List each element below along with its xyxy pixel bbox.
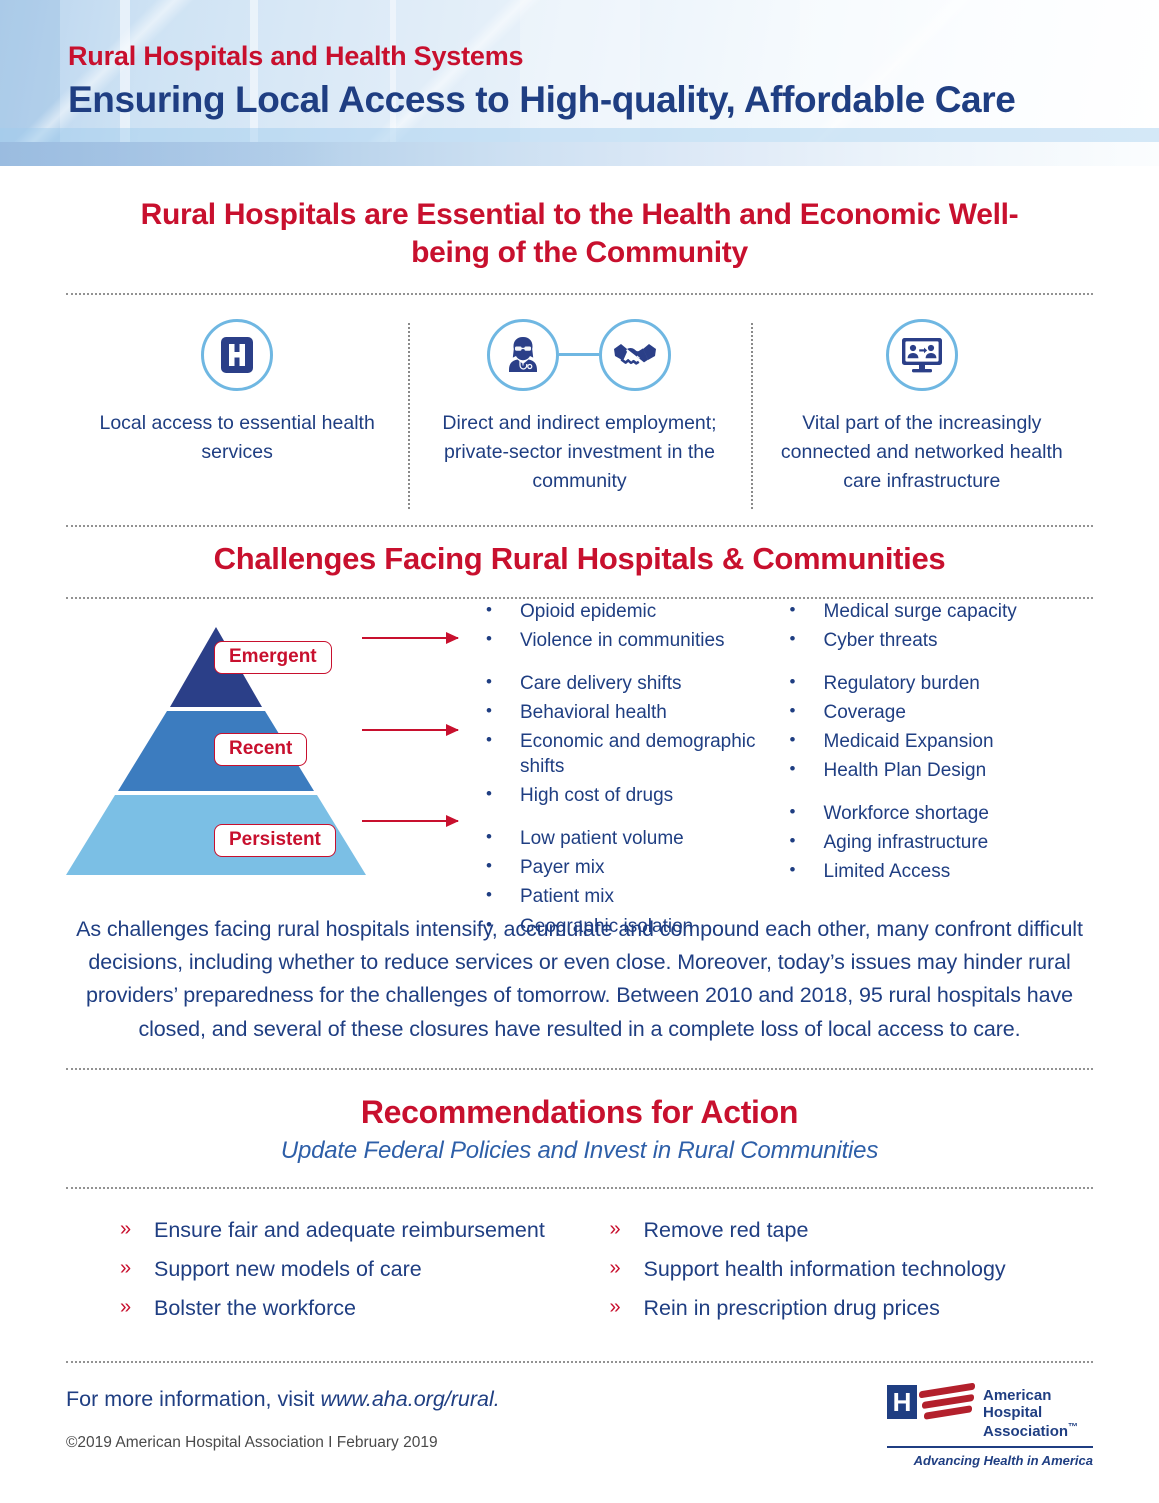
handshake-glyph bbox=[612, 339, 658, 371]
challenge-item: •Payer mix bbox=[486, 855, 790, 880]
recommendation-label: Support new models of care bbox=[154, 1254, 422, 1285]
challenge-item: •Care delivery shifts bbox=[486, 671, 790, 696]
recommendation-item: »Ensure fair and adequate reimbursement bbox=[120, 1215, 580, 1246]
challenge-item: •Low patient volume bbox=[486, 826, 790, 851]
tier-label-emergent: Emergent bbox=[214, 641, 332, 674]
recommendation-label: Remove red tape bbox=[644, 1215, 809, 1246]
connector-line bbox=[559, 353, 599, 356]
icon-pair bbox=[487, 319, 671, 391]
handshake-icon bbox=[599, 319, 671, 391]
trademark-icon: ™ bbox=[1068, 1422, 1078, 1433]
aha-flag-icon bbox=[919, 1385, 977, 1425]
bullet-icon: • bbox=[486, 855, 520, 877]
recommendation-item: »Remove red tape bbox=[610, 1215, 1094, 1246]
challenge-pyramid: Emergent Recent Persistent bbox=[66, 619, 366, 899]
challenge-label: Patient mix bbox=[520, 884, 614, 909]
guillemet-icon: » bbox=[610, 1254, 644, 1283]
challenge-label: Low patient volume bbox=[520, 826, 684, 851]
bullet-icon: • bbox=[486, 826, 520, 848]
challenge-label: Cyber threats bbox=[824, 628, 938, 653]
challenge-item: •Medicaid Expansion bbox=[790, 729, 1094, 754]
hospital-h-glyph bbox=[220, 336, 254, 374]
doctor-icon bbox=[487, 319, 559, 391]
aha-hospital-h-icon: H bbox=[887, 1385, 917, 1419]
pillar-infrastructure: Vital part of the increasingly connected… bbox=[751, 319, 1093, 515]
bullet-icon: • bbox=[486, 729, 520, 751]
aha-name-line1: American Hospital bbox=[983, 1387, 1093, 1422]
tier-label-persistent: Persistent bbox=[214, 824, 336, 857]
header-stripe bbox=[0, 142, 1159, 166]
challenge-item: •Aging infrastructure bbox=[790, 830, 1094, 855]
recommendation-column-right: »Remove red tape »Support health informa… bbox=[580, 1215, 1094, 1333]
guillemet-icon: » bbox=[120, 1215, 154, 1244]
page-footer: For more information, visit www.aha.org/… bbox=[66, 1363, 1093, 1503]
header-stripe bbox=[0, 128, 1159, 142]
challenge-group-emergent: •Opioid epidemic •Violence in communitie… bbox=[486, 599, 790, 653]
bullet-icon: • bbox=[790, 599, 824, 621]
challenge-label: Payer mix bbox=[520, 855, 604, 880]
page-title: Ensuring Local Access to High-quality, A… bbox=[68, 77, 1015, 122]
challenge-column-right: •Medical surge capacity •Cyber threats •… bbox=[790, 599, 1094, 943]
challenge-item: •Medical surge capacity bbox=[790, 599, 1094, 624]
recommendations-section-head: Recommendations for Action Update Federa… bbox=[0, 1070, 1159, 1165]
header-text-block: Rural Hospitals and Health Systems Ensur… bbox=[68, 42, 1015, 122]
divider bbox=[66, 525, 1093, 527]
bullet-icon: • bbox=[790, 801, 824, 823]
arrow-recent bbox=[362, 729, 458, 731]
page-header: Rural Hospitals and Health Systems Ensur… bbox=[0, 0, 1159, 166]
recommendation-label: Support health information technology bbox=[644, 1254, 1006, 1285]
bullet-icon: • bbox=[790, 628, 824, 650]
recommendation-item: »Support health information technology bbox=[610, 1254, 1094, 1285]
challenge-group-emergent: •Medical surge capacity •Cyber threats bbox=[790, 599, 1094, 653]
challenge-label: Behavioral health bbox=[520, 700, 667, 725]
tier-label-recent: Recent bbox=[214, 733, 307, 766]
challenge-item: •Cyber threats bbox=[790, 628, 1094, 653]
divider bbox=[66, 1187, 1093, 1189]
challenges-title: Challenges Facing Rural Hospitals & Comm… bbox=[0, 541, 1159, 577]
aha-rural-url[interactable]: www.aha.org/rural. bbox=[320, 1387, 499, 1411]
challenge-group-persistent: •Workforce shortage •Aging infrastructur… bbox=[790, 801, 1094, 884]
pillar-caption: Vital part of the increasingly connected… bbox=[761, 409, 1083, 497]
challenge-item: •Economic and demographic shifts bbox=[486, 729, 790, 779]
challenge-label: Geographic isolation bbox=[520, 914, 693, 939]
essential-title: Rural Hospitals are Essential to the Hea… bbox=[130, 196, 1029, 273]
recommendation-column-left: »Ensure fair and adequate reimbursement … bbox=[66, 1215, 580, 1333]
recommendation-label: Ensure fair and adequate reimbursement bbox=[154, 1215, 545, 1246]
challenge-label: Limited Access bbox=[824, 859, 951, 884]
challenge-item: •Patient mix bbox=[486, 884, 790, 909]
challenge-label: Economic and demographic shifts bbox=[520, 729, 790, 779]
header-kicker: Rural Hospitals and Health Systems bbox=[68, 42, 1015, 72]
bullet-icon: • bbox=[790, 758, 824, 780]
challenge-item: •Coverage bbox=[790, 700, 1094, 725]
arrow-persistent bbox=[362, 820, 458, 822]
challenge-column-left: •Opioid epidemic •Violence in communitie… bbox=[486, 599, 790, 943]
recommendation-item: »Support new models of care bbox=[120, 1254, 580, 1285]
bullet-icon: • bbox=[486, 671, 520, 693]
aha-name-block: American Hospital Association™ bbox=[983, 1385, 1093, 1441]
divider bbox=[66, 293, 1093, 295]
challenge-item: •Regulatory burden bbox=[790, 671, 1094, 696]
challenges-section-head: Challenges Facing Rural Hospitals & Comm… bbox=[0, 527, 1159, 577]
challenge-label: Aging infrastructure bbox=[824, 830, 989, 855]
challenge-label: Violence in communities bbox=[520, 628, 725, 653]
more-info-prefix: For more information, visit bbox=[66, 1387, 320, 1411]
guillemet-icon: » bbox=[120, 1254, 154, 1283]
challenge-label: Regulatory burden bbox=[824, 671, 980, 696]
challenge-item: •Violence in communities bbox=[486, 628, 790, 653]
bullet-icon: • bbox=[486, 599, 520, 621]
challenge-group-persistent: •Low patient volume •Payer mix •Patient … bbox=[486, 826, 790, 938]
bullet-icon: • bbox=[486, 700, 520, 722]
aha-logo-top: H American Hospital Association™ bbox=[887, 1385, 1093, 1441]
pillars-row: Local access to essential health service… bbox=[66, 295, 1093, 515]
bullet-icon: • bbox=[790, 671, 824, 693]
challenge-label: Coverage bbox=[824, 700, 906, 725]
bullet-icon: • bbox=[790, 830, 824, 852]
challenge-item: •Workforce shortage bbox=[790, 801, 1094, 826]
doctor-glyph bbox=[503, 334, 543, 376]
recommendation-item: »Rein in prescription drug prices bbox=[610, 1293, 1094, 1324]
pillar-caption: Direct and indirect employment; private-… bbox=[418, 409, 740, 497]
challenge-item: •Opioid epidemic bbox=[486, 599, 790, 624]
recommendation-label: Rein in prescription drug prices bbox=[644, 1293, 940, 1324]
challenge-label: Opioid epidemic bbox=[520, 599, 656, 624]
bullet-icon: • bbox=[486, 783, 520, 805]
bullet-icon: • bbox=[486, 628, 520, 650]
telehealth-glyph bbox=[900, 336, 944, 374]
challenge-label: Health Plan Design bbox=[824, 758, 987, 783]
divider bbox=[66, 1068, 1093, 1070]
infographic-page: Rural Hospitals and Health Systems Ensur… bbox=[0, 0, 1159, 1500]
recommendations-title: Recommendations for Action bbox=[0, 1094, 1159, 1131]
challenge-label: Care delivery shifts bbox=[520, 671, 682, 696]
bullet-icon: • bbox=[790, 700, 824, 722]
guillemet-icon: » bbox=[120, 1293, 154, 1322]
recommendation-label: Bolster the workforce bbox=[154, 1293, 356, 1324]
bullet-icon: • bbox=[790, 729, 824, 751]
pillar-caption: Local access to essential health service… bbox=[76, 409, 398, 468]
challenge-label: Medical surge capacity bbox=[824, 599, 1017, 624]
bullet-icon: • bbox=[486, 884, 520, 906]
recommendations-subtitle: Update Federal Policies and Invest in Ru… bbox=[0, 1137, 1159, 1165]
recommendation-item: »Bolster the workforce bbox=[120, 1293, 580, 1324]
challenge-label: Workforce shortage bbox=[824, 801, 989, 826]
pillar-employment: Direct and indirect employment; private-… bbox=[408, 319, 750, 515]
guillemet-icon: » bbox=[610, 1215, 644, 1244]
recommendations-columns: »Ensure fair and adequate reimbursement … bbox=[66, 1215, 1093, 1333]
aha-name-line2-text: Association bbox=[983, 1423, 1068, 1440]
challenge-group-recent: •Regulatory burden •Coverage •Medicaid E… bbox=[790, 671, 1094, 783]
arrow-emergent bbox=[362, 637, 458, 639]
pillar-local-access: Local access to essential health service… bbox=[66, 319, 408, 515]
bullet-icon: • bbox=[486, 914, 520, 936]
telehealth-monitor-icon bbox=[886, 319, 958, 391]
challenge-item: •High cost of drugs bbox=[486, 783, 790, 808]
aha-logo: H American Hospital Association™ Advanci… bbox=[887, 1385, 1093, 1468]
essential-section-head: Rural Hospitals are Essential to the Hea… bbox=[0, 166, 1159, 273]
challenge-item: •Limited Access bbox=[790, 859, 1094, 884]
challenge-label: High cost of drugs bbox=[520, 783, 673, 808]
challenge-item: •Behavioral health bbox=[486, 700, 790, 725]
challenge-item: •Geographic isolation bbox=[486, 914, 790, 939]
aha-tagline: Advancing Health in America bbox=[887, 1453, 1093, 1468]
guillemet-icon: » bbox=[610, 1293, 644, 1322]
hospital-h-icon bbox=[201, 319, 273, 391]
aha-name-line2: Association™ bbox=[983, 1422, 1093, 1441]
challenge-label: Medicaid Expansion bbox=[824, 729, 994, 754]
bullet-icon: • bbox=[790, 859, 824, 881]
challenge-group-recent: •Care delivery shifts •Behavioral health… bbox=[486, 671, 790, 808]
challenge-columns: •Opioid epidemic •Violence in communitie… bbox=[486, 599, 1093, 943]
challenge-item: •Health Plan Design bbox=[790, 758, 1094, 783]
challenges-area: Emergent Recent Persistent •Opioid epide… bbox=[66, 599, 1093, 909]
aha-h-letter: H bbox=[893, 1389, 912, 1415]
aha-logo-rule bbox=[887, 1446, 1093, 1448]
